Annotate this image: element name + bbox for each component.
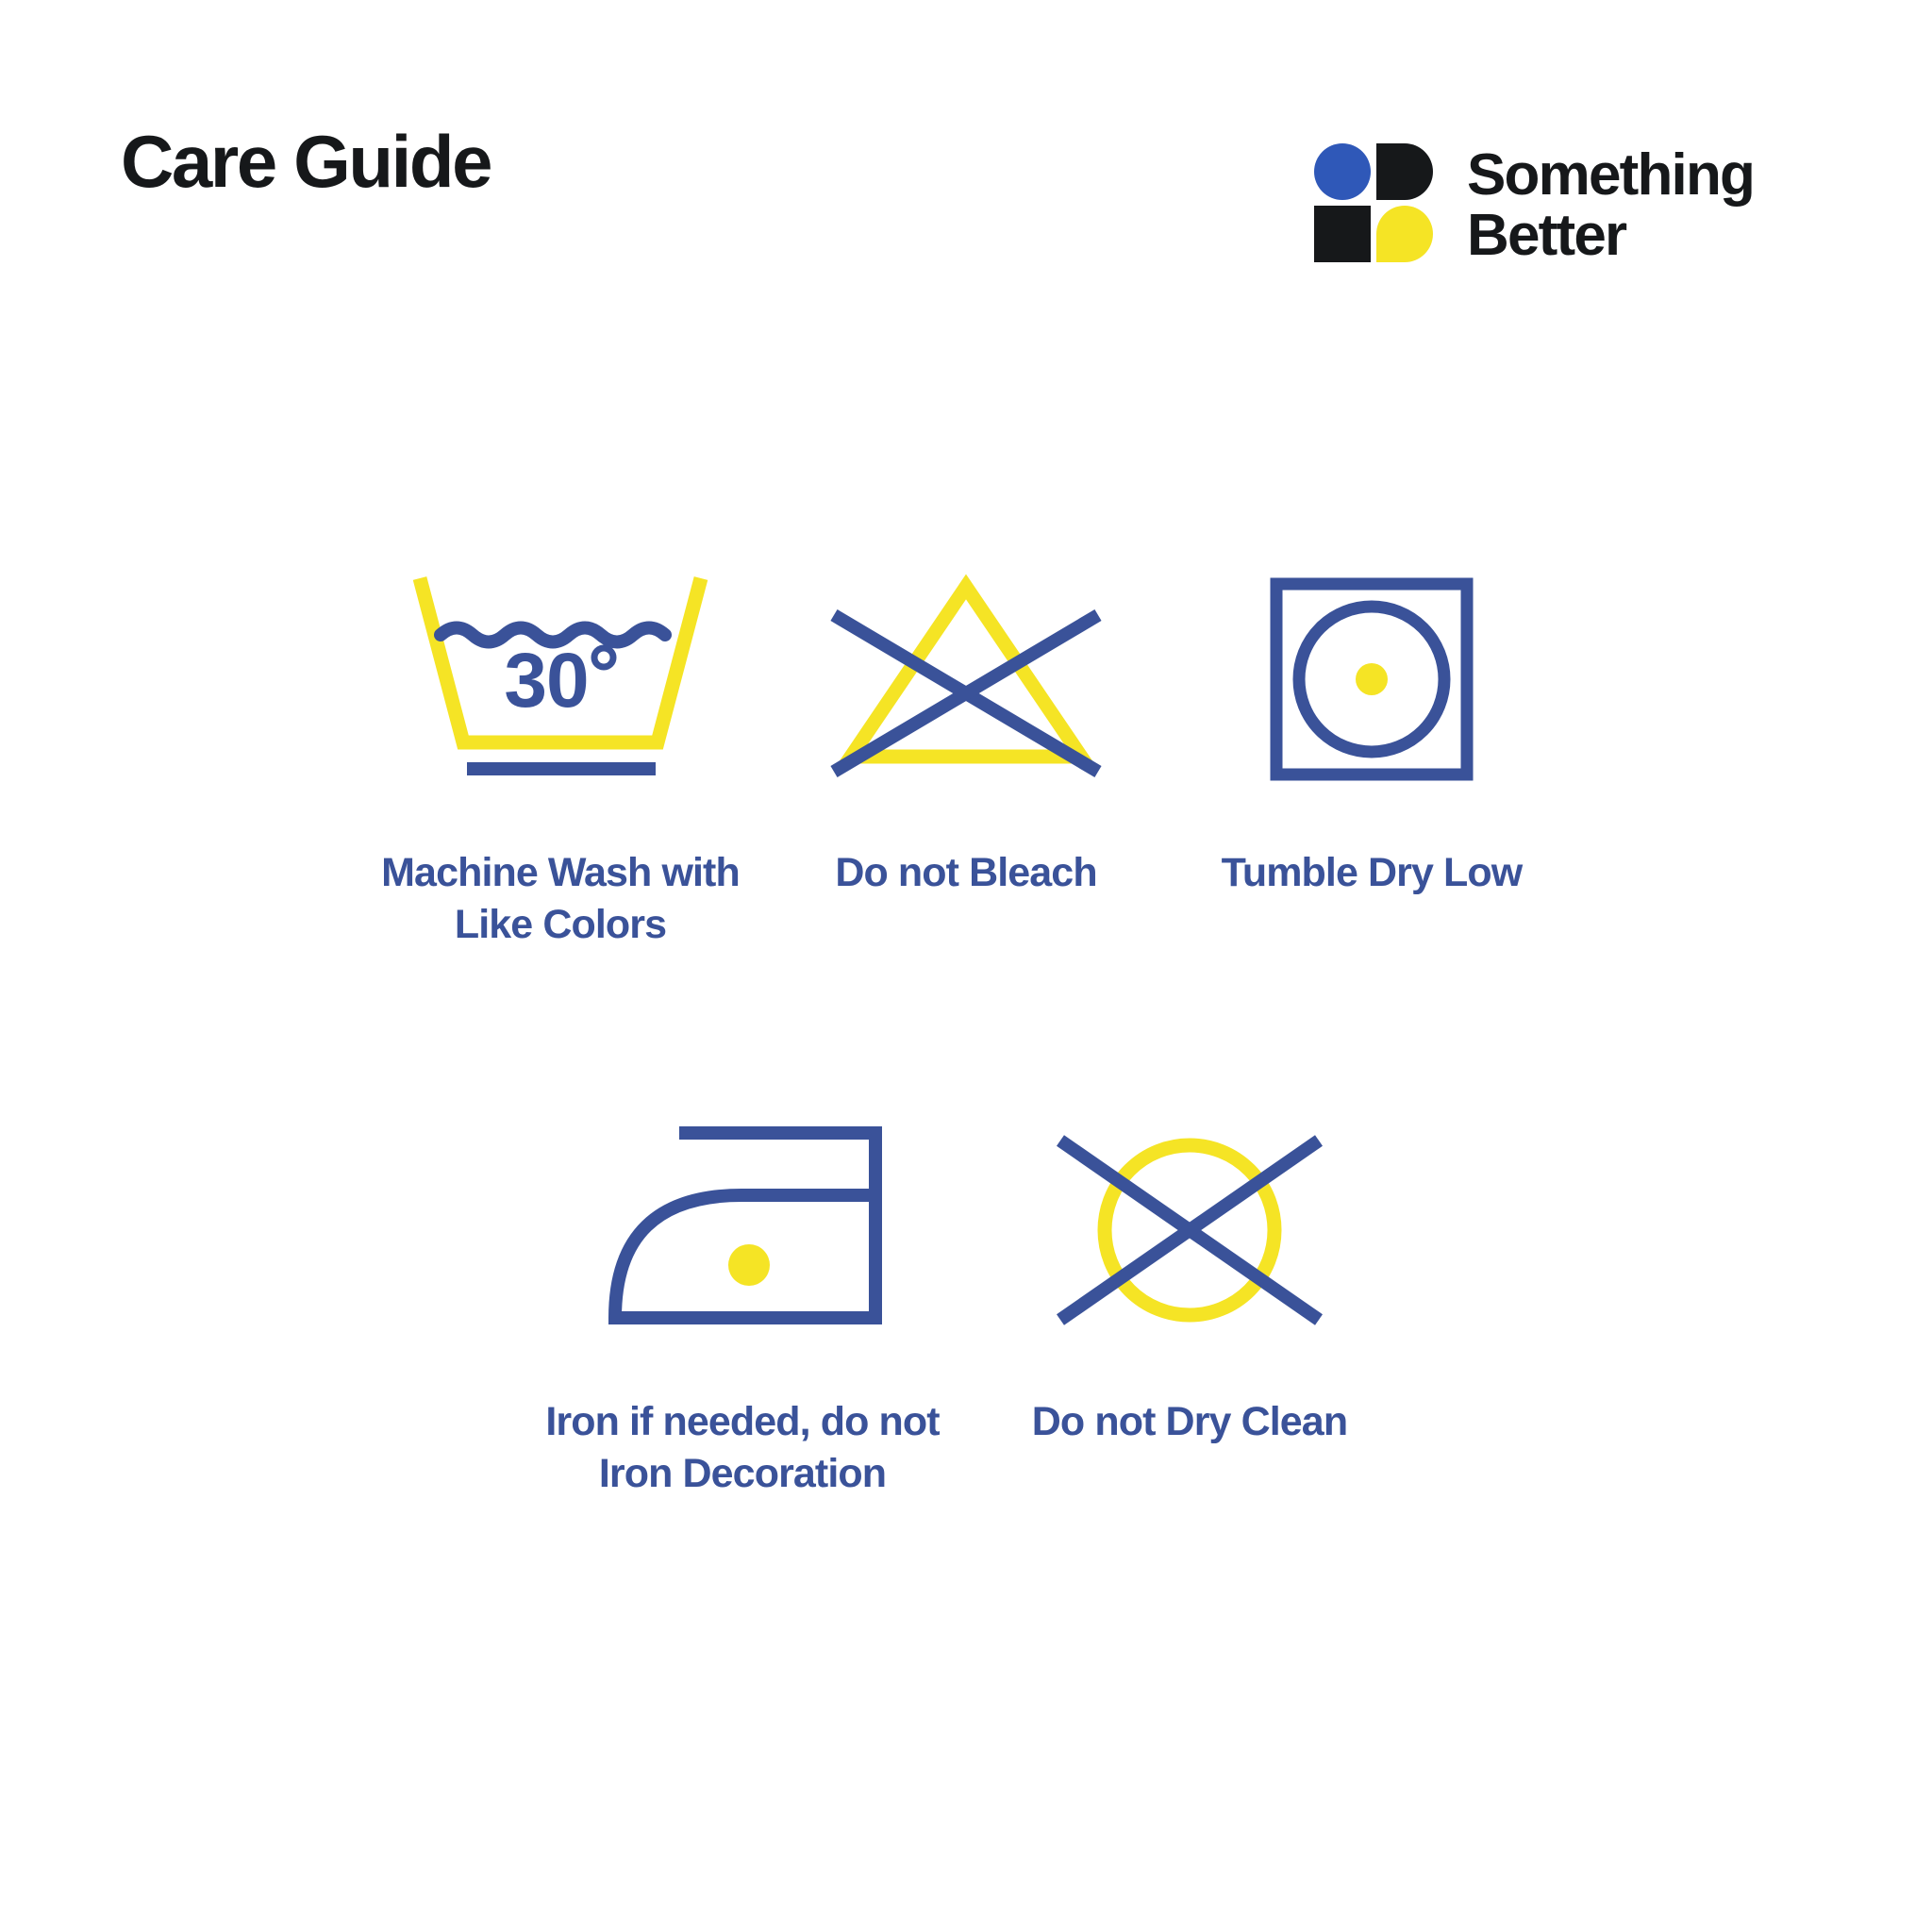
- care-item-do-not-dry-clean: Do not Dry Clean: [987, 1117, 1392, 1448]
- brand-name-line-1: Something: [1467, 145, 1754, 206]
- care-label-tumble-dry: Tumble Dry Low: [1222, 847, 1523, 899]
- brand-logo-mark: [1314, 143, 1433, 262]
- blue-circle-icon: [1314, 143, 1371, 200]
- yellow-drop-shape-icon: [1376, 206, 1433, 262]
- tumble-dry-low-icon: [1268, 566, 1475, 792]
- brand-name: Something Better: [1467, 143, 1754, 266]
- care-symbol-row-2: Iron if needed, do not Iron Decoration D…: [0, 1117, 1932, 1500]
- care-item-machine-wash: 30 Machine Wash with Like Colors: [358, 566, 763, 951]
- do-not-dry-clean-icon: [1053, 1117, 1326, 1343]
- svg-text:30: 30: [504, 638, 588, 724]
- brand-name-line-2: Better: [1467, 206, 1754, 266]
- care-label-do-not-bleach: Do not Bleach: [835, 847, 1096, 899]
- page-header: Care Guide Something Better: [0, 0, 1932, 311]
- care-label-machine-wash: Machine Wash with Like Colors: [381, 847, 740, 951]
- iron-low-icon: [596, 1117, 889, 1343]
- care-symbol-row-1: 30 Machine Wash with Like Colors Do: [0, 566, 1932, 951]
- black-d-shape-icon: [1376, 143, 1433, 200]
- brand-logo: Something Better: [1314, 143, 1754, 266]
- care-symbol-grid: 30 Machine Wash with Like Colors Do: [0, 566, 1932, 1500]
- care-label-iron: Iron if needed, do not Iron Decoration: [545, 1396, 939, 1500]
- care-item-tumble-dry: Tumble Dry Low: [1169, 566, 1574, 899]
- care-item-do-not-bleach: Do not Bleach: [763, 566, 1169, 899]
- care-label-do-not-dry-clean: Do not Dry Clean: [1032, 1396, 1347, 1448]
- do-not-bleach-icon: [824, 566, 1108, 792]
- machine-wash-30-icon: 30: [405, 566, 716, 792]
- page-title: Care Guide: [121, 125, 491, 198]
- black-square-icon: [1314, 206, 1371, 262]
- care-item-iron: Iron if needed, do not Iron Decoration: [540, 1117, 945, 1500]
